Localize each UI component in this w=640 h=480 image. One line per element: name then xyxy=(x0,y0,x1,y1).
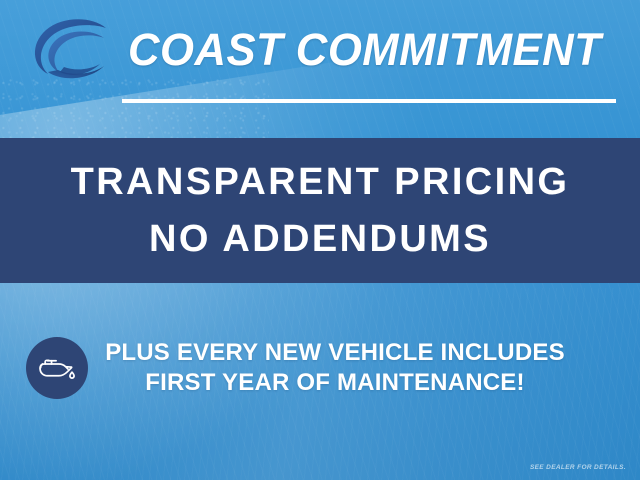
page-title: COAST COMMITMENT xyxy=(128,22,601,78)
oil-can-icon xyxy=(26,337,88,399)
promo-line-2: FIRST YEAR OF MAINTENANCE! xyxy=(88,368,582,398)
promo-line-1: PLUS EVERY NEW VEHICLE INCLUDES xyxy=(88,338,582,368)
header-divider xyxy=(122,99,616,103)
banner-header: COAST COMMITMENT xyxy=(0,0,640,138)
disclaimer-text: SEE DEALER FOR DETAILS. xyxy=(530,464,626,471)
no-addendums-headline: NO ADDENDUMS xyxy=(149,220,491,258)
maintenance-promo: PLUS EVERY NEW VEHICLE INCLUDES FIRST YE… xyxy=(0,320,640,416)
wave-swirl-logo-icon xyxy=(22,14,118,86)
transparent-pricing-headline: TRANSPARENT PRICING xyxy=(71,163,570,201)
maintenance-promo-text: PLUS EVERY NEW VEHICLE INCLUDES FIRST YE… xyxy=(88,338,640,398)
coast-commitment-banner: COAST COMMITMENT TRANSPARENT PRICING NO … xyxy=(0,0,640,480)
pricing-promise-band: TRANSPARENT PRICING NO ADDENDUMS xyxy=(0,138,640,283)
